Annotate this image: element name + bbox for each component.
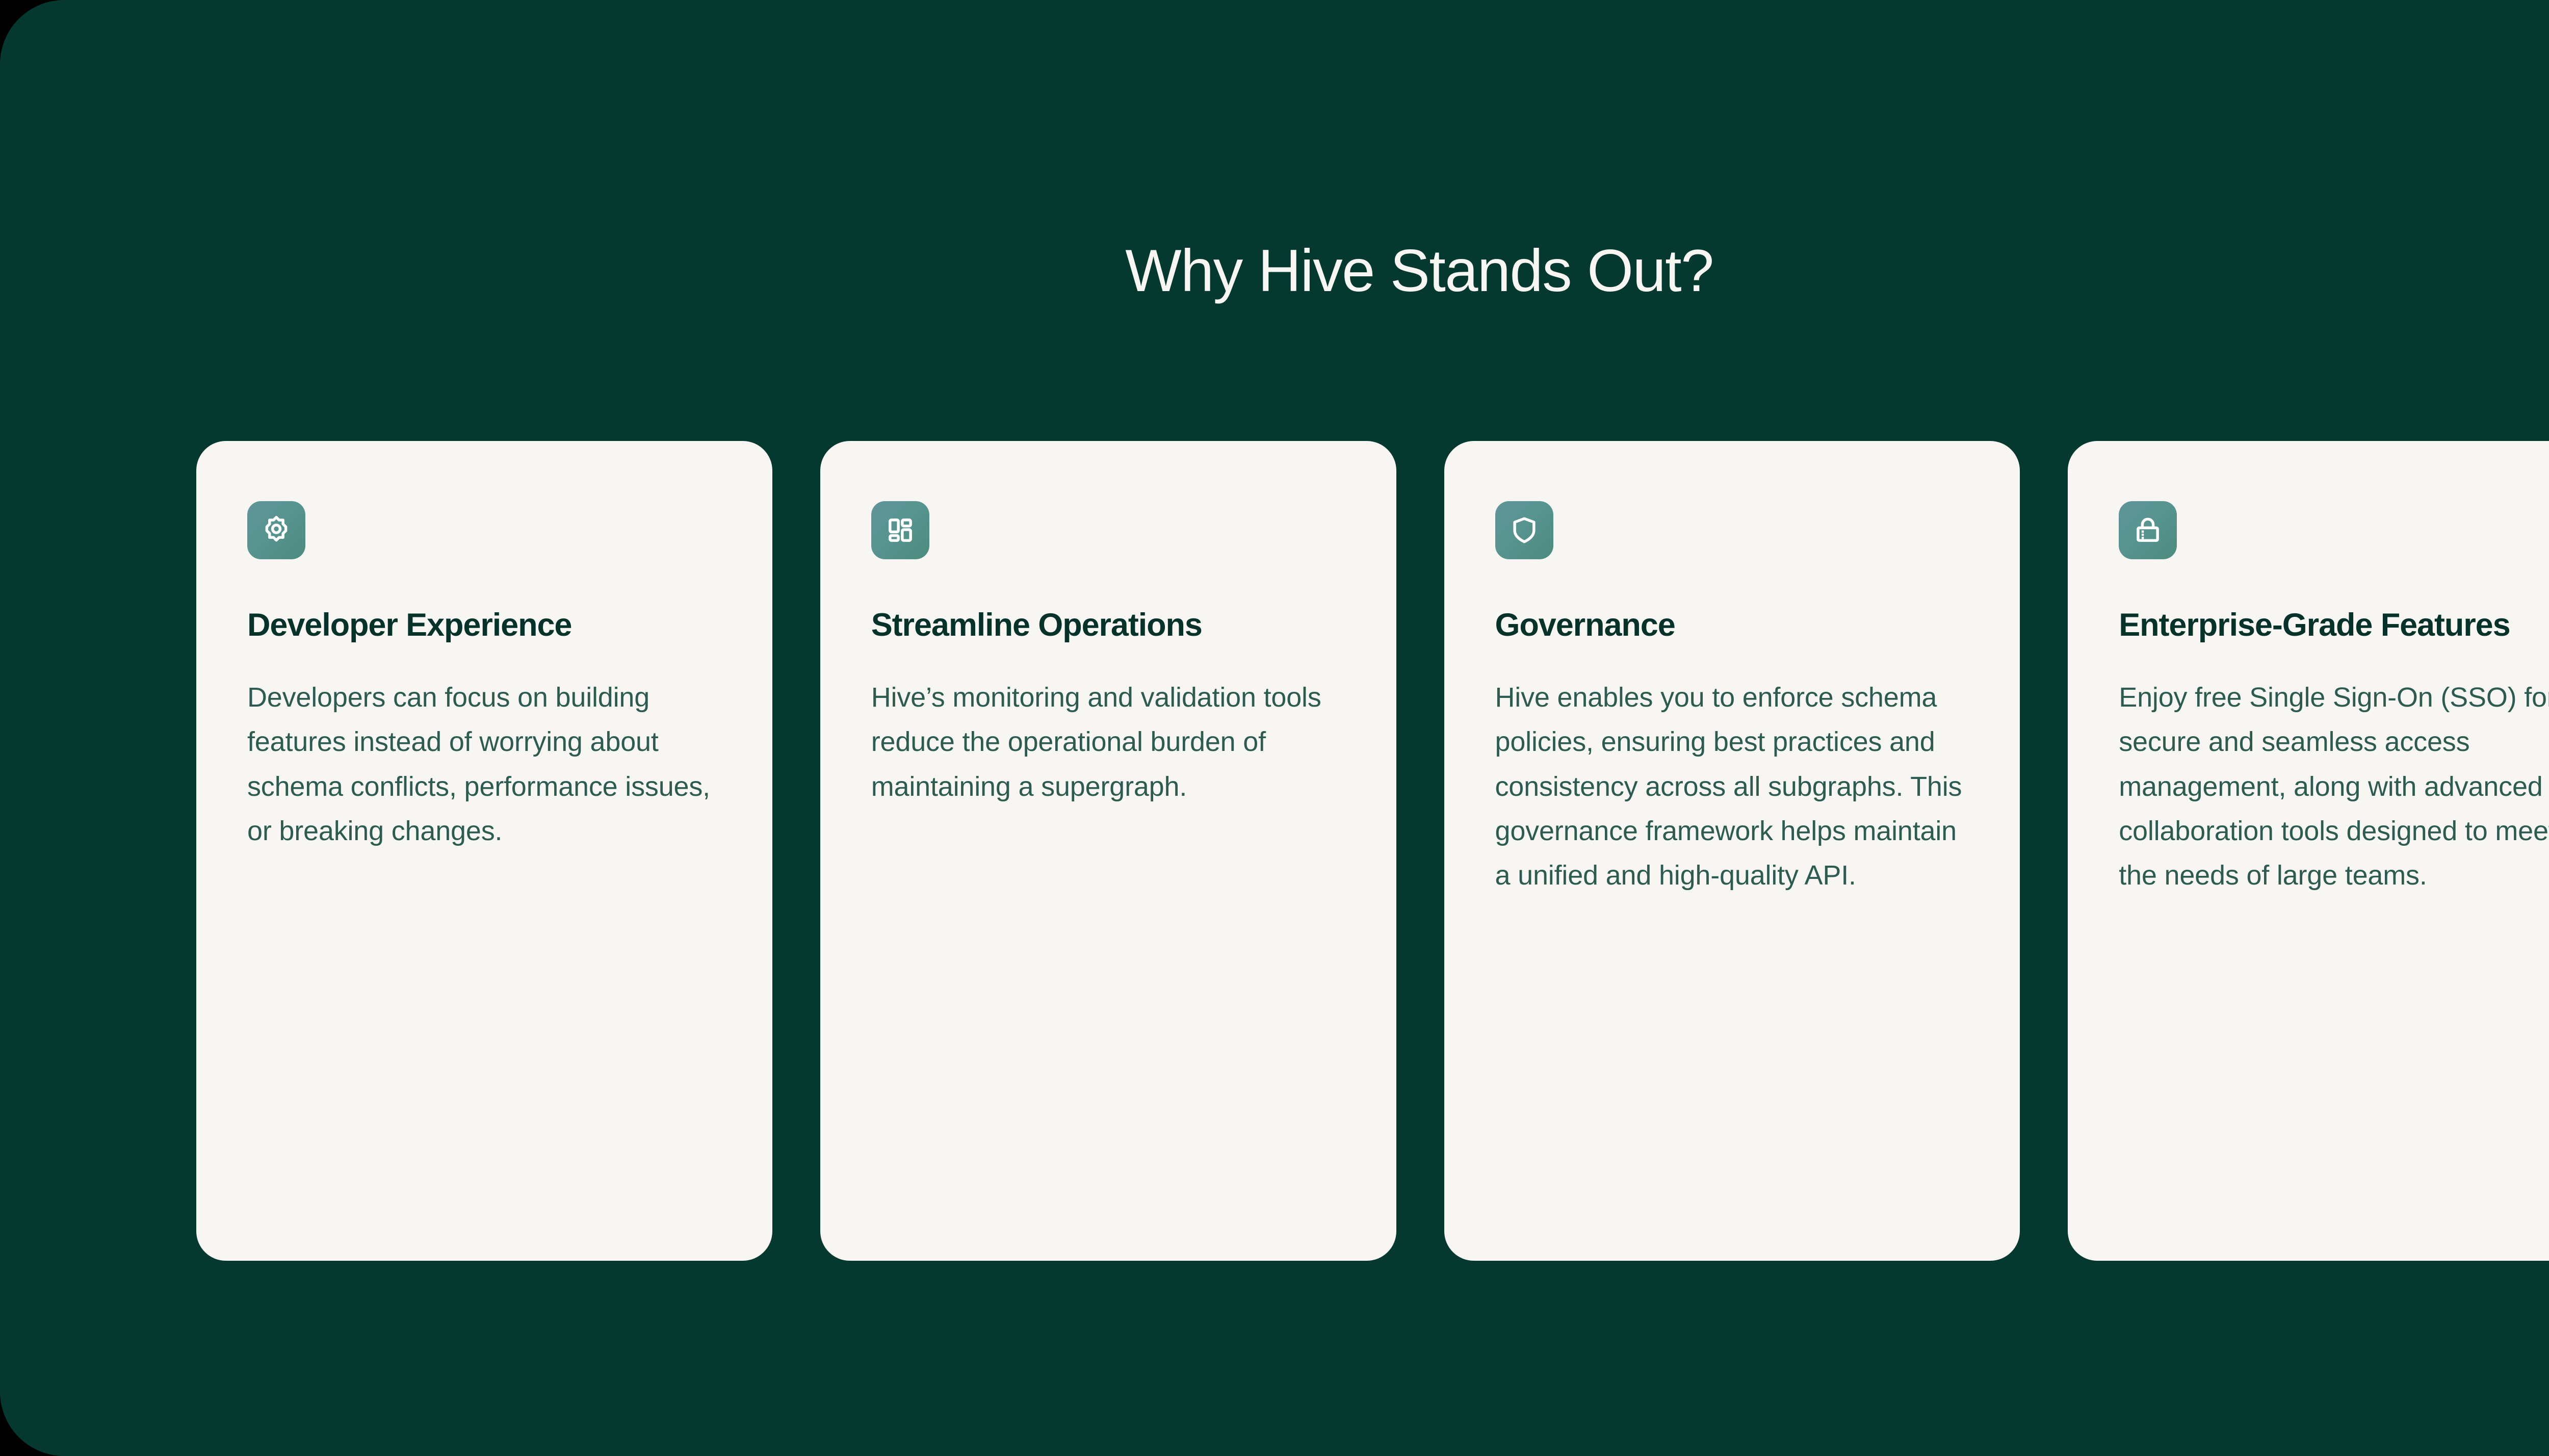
- feature-card[interactable]: Developer Experience Developers can focu…: [196, 441, 772, 1261]
- shield-icon: [1508, 514, 1540, 546]
- lock-icon: [2132, 514, 2164, 546]
- card-title: Enterprise-Grade Features: [2119, 606, 2510, 645]
- feature-card[interactable]: Enterprise-Grade Features Enjoy free Sin…: [2068, 441, 2549, 1261]
- card-title: Streamline Operations: [871, 606, 1202, 645]
- card-title: Governance: [1495, 606, 1675, 645]
- feature-card[interactable]: Streamline Operations Hive’s monitoring …: [820, 441, 1396, 1261]
- icon-tile: [247, 501, 305, 559]
- card-body: Hive enables you to enforce schema polic…: [1495, 675, 1969, 898]
- card-body: Hive’s monitoring and validation tools r…: [871, 675, 1345, 809]
- feature-card-list: Developer Experience Developers can focu…: [196, 441, 2549, 1261]
- feature-section: Why Hive Stands Out? Developer Experienc…: [0, 0, 2549, 1456]
- settings-gear-icon: [261, 514, 292, 546]
- icon-tile: [871, 501, 929, 559]
- card-body: Enjoy free Single Sign-On (SSO) for secu…: [2119, 675, 2549, 898]
- card-body: Developers can focus on building feature…: [247, 675, 721, 854]
- page-title: Why Hive Stands Out?: [0, 237, 2549, 304]
- card-title: Developer Experience: [247, 606, 571, 645]
- icon-tile: [2119, 501, 2177, 559]
- feature-card[interactable]: Governance Hive enables you to enforce s…: [1444, 441, 2020, 1261]
- icon-tile: [1495, 501, 1553, 559]
- dashboard-layout-icon: [885, 514, 916, 546]
